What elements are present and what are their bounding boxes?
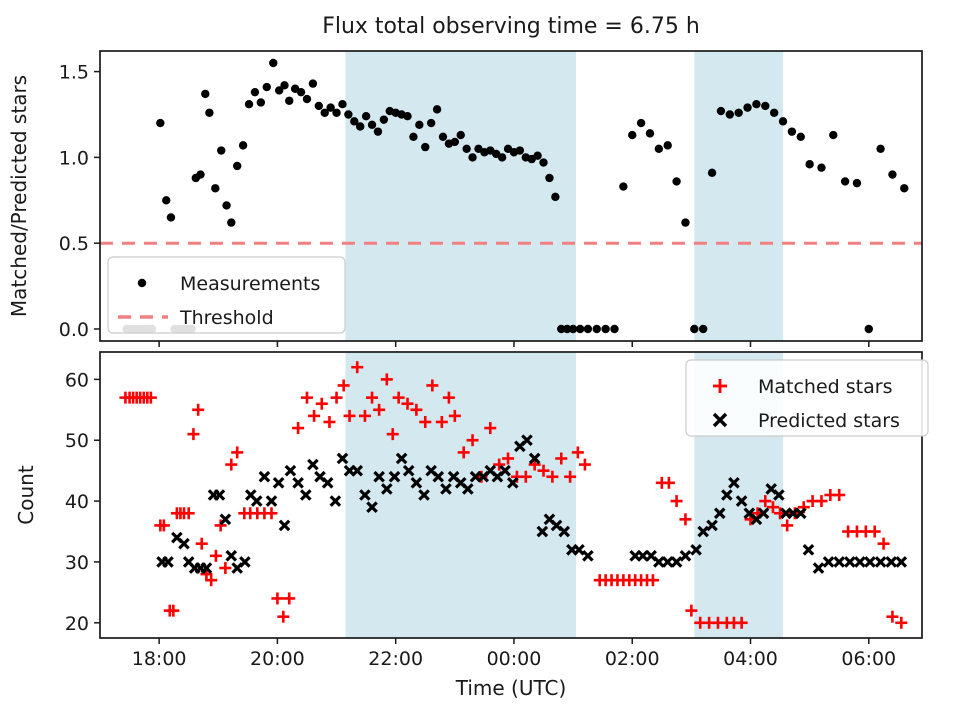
bottom-y-tick-label: 50 — [65, 430, 89, 452]
data-point — [855, 557, 864, 566]
chart-title: Flux total observing time = 6.75 h — [322, 14, 700, 39]
data-point — [252, 496, 261, 505]
data-point — [222, 201, 230, 209]
data-point — [451, 138, 459, 146]
bottom-y-tick-label: 40 — [65, 491, 89, 513]
data-point — [619, 182, 627, 190]
data-point — [201, 90, 209, 98]
data-point — [301, 392, 313, 404]
data-point — [277, 611, 289, 623]
data-point — [779, 117, 787, 125]
data-point — [274, 478, 283, 487]
x-tick-label: 18:00 — [132, 648, 187, 670]
bottom-y-axis-label: Count — [14, 465, 38, 525]
data-point — [824, 557, 833, 566]
data-point — [368, 121, 376, 129]
data-point — [316, 398, 328, 410]
data-point — [421, 143, 429, 151]
data-point — [895, 617, 907, 629]
data-point — [215, 490, 224, 499]
data-point — [439, 133, 447, 141]
x-tick-label: 02:00 — [605, 648, 660, 670]
data-point — [163, 557, 172, 566]
data-point — [257, 98, 265, 106]
data-point — [601, 325, 609, 333]
data-point — [610, 325, 618, 333]
x-axis-label: Time (UTC) — [455, 676, 567, 700]
data-point — [647, 574, 659, 586]
data-point — [297, 88, 305, 96]
data-point — [833, 489, 845, 501]
data-point — [210, 550, 222, 562]
data-point — [219, 562, 231, 574]
data-point — [380, 115, 388, 123]
data-point — [835, 557, 844, 566]
data-point — [853, 179, 861, 187]
data-point — [878, 538, 890, 550]
data-point — [292, 422, 304, 434]
data-point — [338, 100, 346, 108]
data-point — [221, 515, 230, 524]
data-point — [233, 162, 241, 170]
data-point — [240, 557, 249, 566]
data-point — [829, 131, 837, 139]
data-point — [761, 102, 769, 110]
data-point — [679, 513, 691, 525]
data-point — [539, 158, 547, 166]
data-point — [267, 496, 276, 505]
data-point — [205, 109, 213, 117]
data-point — [457, 131, 465, 139]
data-point — [876, 557, 885, 566]
data-point — [699, 325, 707, 333]
data-point — [227, 218, 235, 226]
data-point — [315, 102, 323, 110]
data-point — [628, 131, 636, 139]
data-point — [672, 177, 680, 185]
data-point — [865, 325, 873, 333]
data-point — [263, 83, 271, 91]
data-point — [770, 109, 778, 117]
data-point — [309, 79, 317, 87]
data-point — [167, 213, 175, 221]
figure-container: 0.00.51.01.5203040506018:0020:0022:0000:… — [0, 0, 960, 720]
data-point — [886, 611, 898, 623]
data-point — [260, 472, 269, 481]
x-tick-label: 22:00 — [368, 648, 423, 670]
data-point — [293, 478, 302, 487]
data-point — [280, 521, 289, 530]
data-point — [815, 495, 827, 507]
data-point — [516, 146, 524, 154]
data-point — [593, 325, 601, 333]
data-point — [734, 109, 742, 117]
data-point — [427, 119, 435, 127]
data-point — [545, 174, 553, 182]
data-point — [344, 110, 352, 118]
data-point — [374, 127, 382, 135]
x-tick-label: 06:00 — [841, 648, 896, 670]
data-point — [869, 526, 881, 538]
data-point — [690, 325, 698, 333]
data-point — [280, 81, 288, 89]
data-point — [303, 95, 311, 103]
x-tick-label: 20:00 — [250, 648, 305, 670]
data-point — [900, 184, 908, 192]
data-point — [865, 557, 874, 566]
data-point — [403, 112, 411, 120]
data-point — [187, 428, 199, 440]
data-point — [887, 557, 896, 566]
data-point — [286, 466, 295, 475]
data-point — [433, 105, 441, 113]
data-point — [409, 133, 417, 141]
legend-label: Matched stars — [758, 376, 892, 398]
shaded-span-2 — [694, 51, 783, 341]
data-point — [533, 151, 541, 159]
data-point — [726, 110, 734, 118]
data-point — [654, 557, 663, 566]
data-point — [672, 557, 681, 566]
data-point — [283, 592, 295, 604]
data-point — [196, 538, 208, 550]
data-point — [817, 163, 825, 171]
shaded-span-1 — [345, 51, 576, 341]
data-point — [876, 145, 884, 153]
data-point — [462, 145, 470, 153]
bottom-y-tick-label: 30 — [65, 552, 89, 574]
data-point — [362, 112, 370, 120]
data-point — [579, 459, 591, 471]
data-point — [717, 107, 725, 115]
data-point — [269, 59, 277, 67]
bottom-panel-legend[interactable]: Matched starsPredicted stars — [686, 360, 928, 436]
top-y-tick-label: 0.0 — [59, 319, 89, 341]
data-point — [162, 196, 170, 204]
data-point — [227, 551, 236, 560]
data-point — [331, 496, 340, 505]
data-point — [331, 392, 343, 404]
data-point — [192, 404, 204, 416]
data-point — [671, 495, 683, 507]
data-point — [583, 551, 592, 560]
data-point — [814, 563, 823, 572]
data-point — [664, 141, 672, 149]
data-point — [841, 177, 849, 185]
data-point — [498, 153, 506, 161]
data-point — [788, 127, 796, 135]
data-point — [637, 119, 645, 127]
data-point — [681, 218, 689, 226]
data-point — [708, 169, 716, 177]
data-point — [301, 490, 310, 499]
data-point — [845, 557, 854, 566]
data-point — [888, 170, 896, 178]
data-point — [251, 88, 259, 96]
data-point — [308, 460, 317, 469]
data-point — [196, 170, 204, 178]
data-point — [797, 133, 805, 141]
data-point — [271, 592, 283, 604]
top-panel-legend[interactable]: MeasurementsThreshold — [108, 257, 345, 333]
shaded-span-1 — [345, 352, 576, 638]
data-point — [225, 459, 237, 471]
data-point — [156, 119, 164, 127]
x-tick-label: 00:00 — [487, 648, 542, 670]
bottom-y-tick-label: 20 — [65, 613, 89, 635]
data-point — [356, 122, 364, 130]
data-point — [663, 477, 675, 489]
legend-dot-icon — [138, 279, 146, 287]
data-point — [323, 416, 335, 428]
data-point — [323, 478, 332, 487]
data-point — [576, 325, 584, 333]
top-y-tick-label: 1.5 — [59, 62, 89, 84]
top-y-axis-label: Matched/Predicted stars — [7, 75, 31, 317]
data-point — [245, 100, 253, 108]
top-y-tick-label: 0.5 — [59, 233, 89, 255]
data-point — [285, 97, 293, 105]
data-point — [265, 507, 277, 519]
data-point — [897, 557, 906, 566]
bottom-y-tick-label: 60 — [65, 369, 89, 391]
data-point — [655, 145, 663, 153]
data-point — [211, 184, 219, 192]
data-point — [584, 325, 592, 333]
data-point — [805, 160, 813, 168]
data-point — [663, 557, 672, 566]
legend-label: Predicted stars — [758, 410, 900, 432]
data-point — [179, 539, 188, 548]
data-point — [743, 103, 751, 111]
x-tick-label: 04:00 — [723, 648, 778, 670]
top-y-tick-label: 1.0 — [59, 147, 89, 169]
data-point — [415, 121, 423, 129]
data-point — [468, 153, 476, 161]
data-point — [239, 141, 247, 149]
data-point — [332, 109, 340, 117]
data-point — [308, 410, 320, 422]
plot-canvas: 0.00.51.01.5203040506018:0020:0022:0000:… — [0, 0, 960, 720]
data-point — [752, 100, 760, 108]
data-point — [217, 146, 225, 154]
data-point — [551, 193, 559, 201]
legend-label: Threshold — [179, 307, 274, 329]
data-point — [681, 551, 690, 560]
data-point — [646, 129, 654, 137]
data-point — [231, 446, 243, 458]
legend-label: Measurements — [180, 273, 320, 295]
data-point — [804, 545, 813, 554]
